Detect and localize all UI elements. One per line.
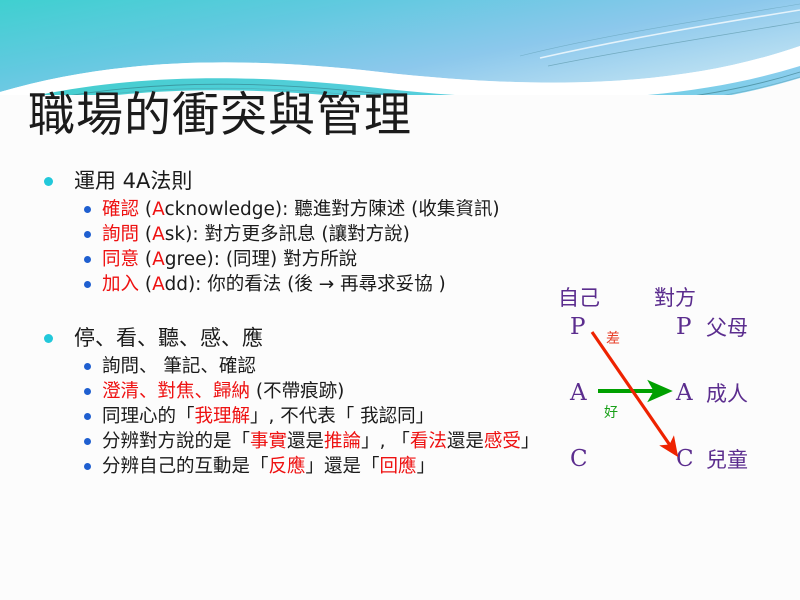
bullet-listen-item-5: 分辨自己的互動是「反應」還是「回應」 <box>0 454 560 479</box>
term-agree: 同意 <box>102 249 139 270</box>
bullet-4a-item-3: 同意 (Agree): (同理) 對方所說 <box>0 247 560 272</box>
open-paren-2: ( <box>139 224 152 245</box>
self-child-letter: C <box>570 446 588 472</box>
bullet-dot-level2-icon <box>84 438 91 445</box>
other-parent-letter: P <box>676 314 691 340</box>
pac-transaction-diagram: 自己 對方 P A C P A C 父母 成人 兒童 差 好 <box>548 282 800 482</box>
listen-5-part-4: 」 <box>417 456 436 477</box>
page-title: 職場的衝突與管理 <box>28 92 412 139</box>
listen-3-part-1: 我理解 <box>195 406 251 427</box>
bullet-dot-level2-icon <box>84 363 91 370</box>
slide-body: 運用 4A法則 確認 (Acknowledge): 聽進對方陳述 (收集資訊) … <box>0 166 560 479</box>
listen-2-part-0: 澄清、對焦、歸納 <box>102 381 250 402</box>
bullet-dot-level2-icon <box>84 413 91 420</box>
listen-5-part-2: 」還是「 <box>306 456 380 477</box>
listen-1-part-0: 詢問、 筆記、確認 <box>102 356 256 377</box>
bullet-dot-level2-icon <box>84 281 91 288</box>
ego-state-name-parent: 父母 <box>706 312 748 342</box>
listen-4-part-1: 事實 <box>250 431 287 452</box>
rest-ask: sk): 對方更多訊息 (讓對方說) <box>165 224 410 245</box>
rest-acknowledge: cknowledge): 聽進對方陳述 (收集資訊) <box>164 199 499 220</box>
bullet-listen-heading: 停、看、聽、感、應 <box>0 323 560 353</box>
ego-state-name-child: 兒童 <box>706 444 748 474</box>
bullet-4a-heading-label: 運用 4A法則 <box>74 169 192 193</box>
bullet-dot-level2-icon <box>84 206 91 213</box>
listen-5-part-3: 回應 <box>380 456 417 477</box>
bullet-dot-level1-icon <box>44 177 53 186</box>
bullet-listen-heading-label: 停、看、聽、感、應 <box>74 326 263 350</box>
listen-2-part-1: (不帶痕跡) <box>250 381 344 402</box>
listen-3-part-0: 同理心的「 <box>102 406 195 427</box>
self-parent-letter: P <box>570 314 585 340</box>
open-paren-3: ( <box>139 249 152 270</box>
listen-4-part-6: 還是 <box>447 431 484 452</box>
bullet-4a-item-2: 詢問 (Ask): 對方更多訊息 (讓對方說) <box>0 222 560 247</box>
bullet-listen-item-2: 澄清、對焦、歸納 (不帶痕跡) <box>0 379 560 404</box>
letter-a-1: A <box>152 199 164 220</box>
bullet-dot-level2-icon <box>84 231 91 238</box>
open-paren-1: ( <box>139 199 152 220</box>
bullet-dot-level2-icon <box>84 256 91 263</box>
bullet-listen-item-3: 同理心的「我理解」, 不代表「 我認同」 <box>0 404 560 429</box>
section-spacer <box>0 297 560 323</box>
letter-a-2: A <box>152 224 165 245</box>
letter-a-4: A <box>152 274 164 295</box>
presentation-slide: 職場的衝突與管理 運用 4A法則 確認 (Acknowledge): 聽進對方陳… <box>0 0 800 600</box>
open-paren-4: ( <box>139 274 152 295</box>
listen-4-part-0: 分辨對方說的是「 <box>102 431 250 452</box>
bullet-4a-item-4: 加入 (Add): 你的看法 (後 → 再尋求妥協 ) <box>0 272 560 297</box>
listen-4-part-5: 看法 <box>410 431 447 452</box>
listen-4-part-4: 」, 「 <box>361 431 410 452</box>
diagram-header-other: 對方 <box>654 282 696 312</box>
other-adult-letter: A <box>676 380 693 406</box>
term-acknowledge: 確認 <box>102 199 139 220</box>
term-ask: 詢問 <box>102 224 139 245</box>
bullet-listen-item-4: 分辨對方說的是「事實還是推論」, 「看法還是感受」 <box>0 429 560 454</box>
bullet-dot-level2-icon <box>84 388 91 395</box>
listen-4-part-3: 推論 <box>324 431 361 452</box>
letter-a-3: A <box>152 249 165 270</box>
bullet-listen-item-1: 詢問、 筆記、確認 <box>0 354 560 379</box>
rest-agree: gree): (同理) 對方所說 <box>165 249 357 270</box>
bullet-4a-item-1: 確認 (Acknowledge): 聽進對方陳述 (收集資訊) <box>0 197 560 222</box>
header-banner-decoration <box>0 0 800 95</box>
bullet-4a-heading: 運用 4A法則 <box>0 166 560 196</box>
self-adult-letter: A <box>570 380 587 406</box>
listen-4-part-7: 感受 <box>484 431 521 452</box>
bullet-dot-level1-icon <box>44 334 53 343</box>
bullet-dot-level2-icon <box>84 463 91 470</box>
rest-add: dd): 你的看法 (後 → 再尋求妥協 ) <box>164 274 445 295</box>
crossed-transaction-arrow <box>592 332 676 454</box>
listen-4-part-8: 」 <box>521 431 540 452</box>
other-child-letter: C <box>676 446 694 472</box>
arrow-label-good: 好 <box>604 402 618 422</box>
diagram-header-self: 自己 <box>558 282 600 312</box>
listen-5-part-1: 反應 <box>269 456 306 477</box>
term-add: 加入 <box>102 274 139 295</box>
arrow-label-bad: 差 <box>606 328 620 348</box>
listen-3-part-2: 」, 不代表「 我認同」 <box>250 406 434 427</box>
listen-4-part-2: 還是 <box>287 431 324 452</box>
ego-state-name-adult: 成人 <box>706 378 748 408</box>
listen-5-part-0: 分辨自己的互動是「 <box>102 456 269 477</box>
